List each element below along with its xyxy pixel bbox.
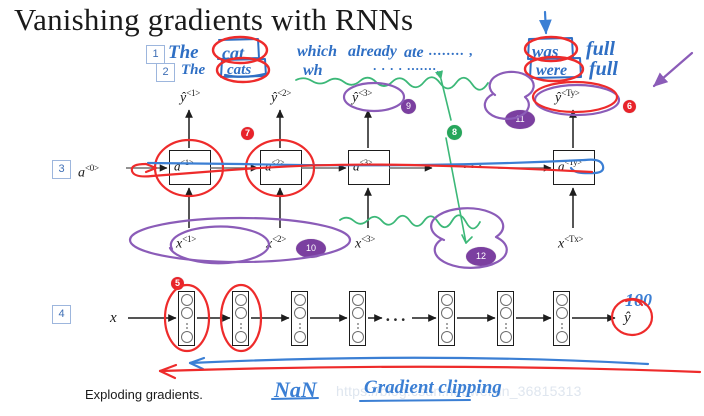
rnn-input-arrows	[189, 188, 573, 228]
ink-blue-underlines	[272, 398, 470, 401]
ink-purple-blank-circle-12	[431, 208, 507, 268]
ink-purple-arrows	[654, 53, 692, 86]
slide-canvas: Vanishing gradients with RNNs 1 2 3 4 Th…	[0, 0, 704, 416]
ink-green-squiggle-2	[340, 215, 480, 228]
ink-red-yhat-circle	[612, 299, 652, 335]
ink-red-yhatTy-circle	[533, 82, 617, 112]
drawing-layer	[0, 0, 704, 416]
ink-green-squiggle	[296, 77, 488, 90]
ink-purple-yhat3-circle	[344, 83, 404, 111]
ink-purple-blank-circle-11	[485, 72, 534, 119]
ink-purple-yhatTy-circle	[535, 85, 619, 115]
ink-purple-input-circles	[130, 218, 350, 263]
ink-blue-down-arrow	[545, 12, 546, 33]
ink-red-backprop-arrow	[160, 365, 700, 378]
ink-green-connector	[441, 79, 472, 243]
rnn-output-arrows	[189, 110, 573, 148]
